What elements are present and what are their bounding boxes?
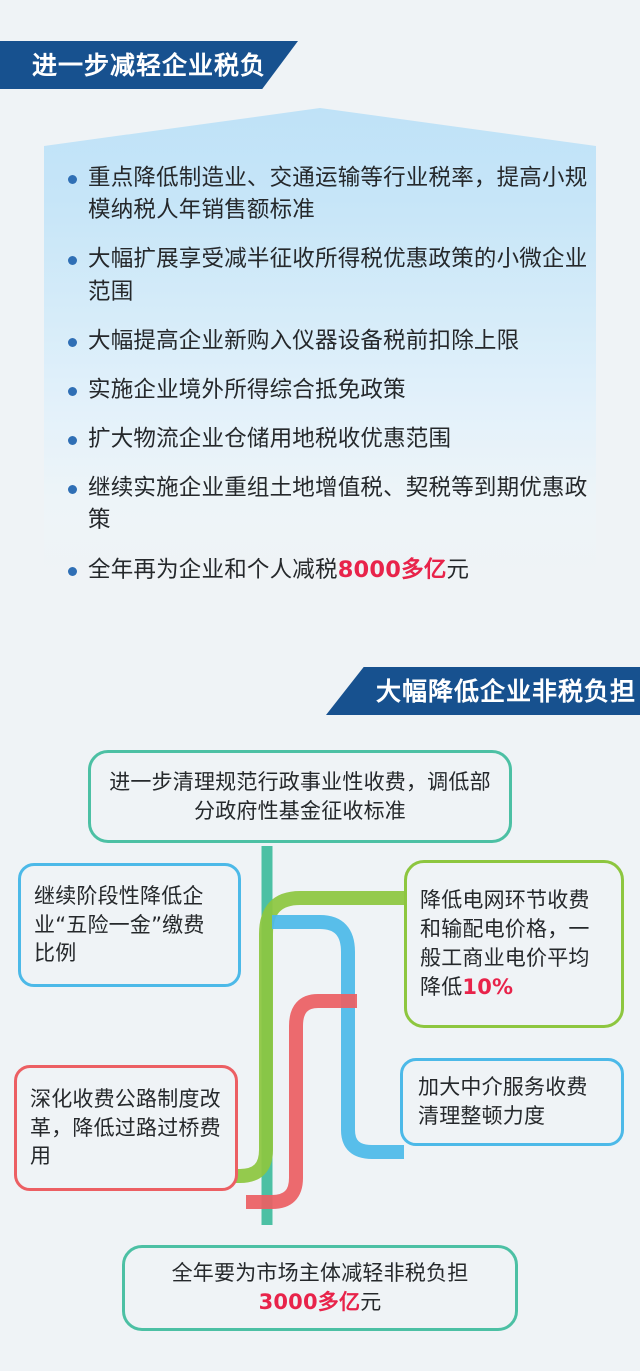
- bullet-dot-icon: [68, 567, 77, 576]
- list-item-label: 大幅扩展享受减半征收所得税优惠政策的小微企业范围: [88, 243, 588, 307]
- bullet-dot-icon: [68, 256, 77, 265]
- nontax-flow-diagram: 进一步清理规范行政事业性收费，调低部分政府性基金征收标准 继续阶段性降低企业“五…: [0, 660, 640, 1371]
- list-item: 扩大物流企业仓储用地税收优惠范围: [68, 423, 598, 455]
- flow-box-electricity-price-label: 降低电网环节收费和输配电价格，一般工商业电价平均降低10%: [407, 886, 621, 1002]
- flow-box-total-nontax-reduction: 全年要为市场主体减轻非税负担3000多亿元: [122, 1245, 518, 1331]
- list-item-label: 重点降低制造业、交通运输等行业税率，提高小规模纳税人年销售额标准: [88, 162, 588, 226]
- flow-box-admin-fees-label: 进一步清理规范行政事业性收费，调低部分政府性基金征收标准: [91, 768, 509, 826]
- tax-reduction-bullet-list: 重点降低制造业、交通运输等行业税率，提高小规模纳税人年销售额标准 大幅扩展享受减…: [68, 162, 598, 603]
- list-item-label-suffix: 元: [447, 557, 470, 583]
- flow-box-electricity-price-highlight: 10%: [462, 975, 513, 999]
- flow-box-toll-roads-label: 深化收费公路制度改革，降低过路过桥费用: [17, 1085, 235, 1172]
- list-item-highlight-amount: 8000多亿: [338, 557, 447, 583]
- list-item: 全年再为企业和个人减税8000多亿元: [68, 554, 598, 586]
- flow-box-total-highlight: 3000多亿: [259, 1290, 361, 1314]
- flow-box-intermediary-fees-label: 加大中介服务收费清理整顿力度: [403, 1073, 621, 1131]
- bullet-dot-icon: [68, 485, 77, 494]
- infographic-page: 进一步减轻企业税负 重点降低制造业、交通运输等行业税率，提高小规模纳税人年销售额…: [0, 0, 640, 1371]
- list-item: 继续实施企业重组土地增值税、契税等到期优惠政策: [68, 472, 598, 536]
- list-item-label: 扩大物流企业仓储用地税收优惠范围: [88, 423, 451, 455]
- list-item-label-prefix: 全年再为企业和个人减税: [88, 557, 338, 583]
- flow-box-total-prefix: 全年要为市场主体减轻非税负担: [172, 1261, 469, 1285]
- list-item: 大幅扩展享受减半征收所得税优惠政策的小微企业范围: [68, 243, 598, 307]
- list-item-label: 全年再为企业和个人减税8000多亿元: [88, 554, 469, 586]
- list-item-label: 继续实施企业重组土地增值税、契税等到期优惠政策: [88, 472, 588, 536]
- flow-box-electricity-price: 降低电网环节收费和输配电价格，一般工商业电价平均降低10%: [404, 860, 624, 1028]
- bullet-dot-icon: [68, 338, 77, 347]
- list-item: 重点降低制造业、交通运输等行业税率，提高小规模纳税人年销售额标准: [68, 162, 598, 226]
- list-item-label: 实施企业境外所得综合抵免政策: [88, 374, 406, 406]
- flow-box-social-insurance-label: 继续阶段性降低企业“五险一金”缴费比例: [21, 882, 238, 969]
- bullet-dot-icon: [68, 387, 77, 396]
- flow-box-intermediary-fees: 加大中介服务收费清理整顿力度: [400, 1058, 624, 1146]
- section-banner-tax-reduction: 进一步减轻企业税负: [0, 41, 298, 89]
- flow-box-total-nontax-reduction-label: 全年要为市场主体减轻非税负担3000多亿元: [156, 1259, 485, 1317]
- list-item: 大幅提高企业新购入仪器设备税前扣除上限: [68, 325, 598, 357]
- flow-box-admin-fees: 进一步清理规范行政事业性收费，调低部分政府性基金征收标准: [88, 750, 512, 843]
- list-item: 实施企业境外所得综合抵免政策: [68, 374, 598, 406]
- flow-box-social-insurance: 继续阶段性降低企业“五险一金”缴费比例: [18, 863, 241, 987]
- bullet-dot-icon: [68, 175, 77, 184]
- list-item-label: 大幅提高企业新购入仪器设备税前扣除上限: [88, 325, 519, 357]
- flow-box-total-suffix: 元: [360, 1290, 381, 1314]
- section-banner-tax-reduction-label: 进一步减轻企业税负: [32, 53, 266, 78]
- flow-box-toll-roads: 深化收费公路制度改革，降低过路过桥费用: [14, 1065, 238, 1191]
- bullet-dot-icon: [68, 436, 77, 445]
